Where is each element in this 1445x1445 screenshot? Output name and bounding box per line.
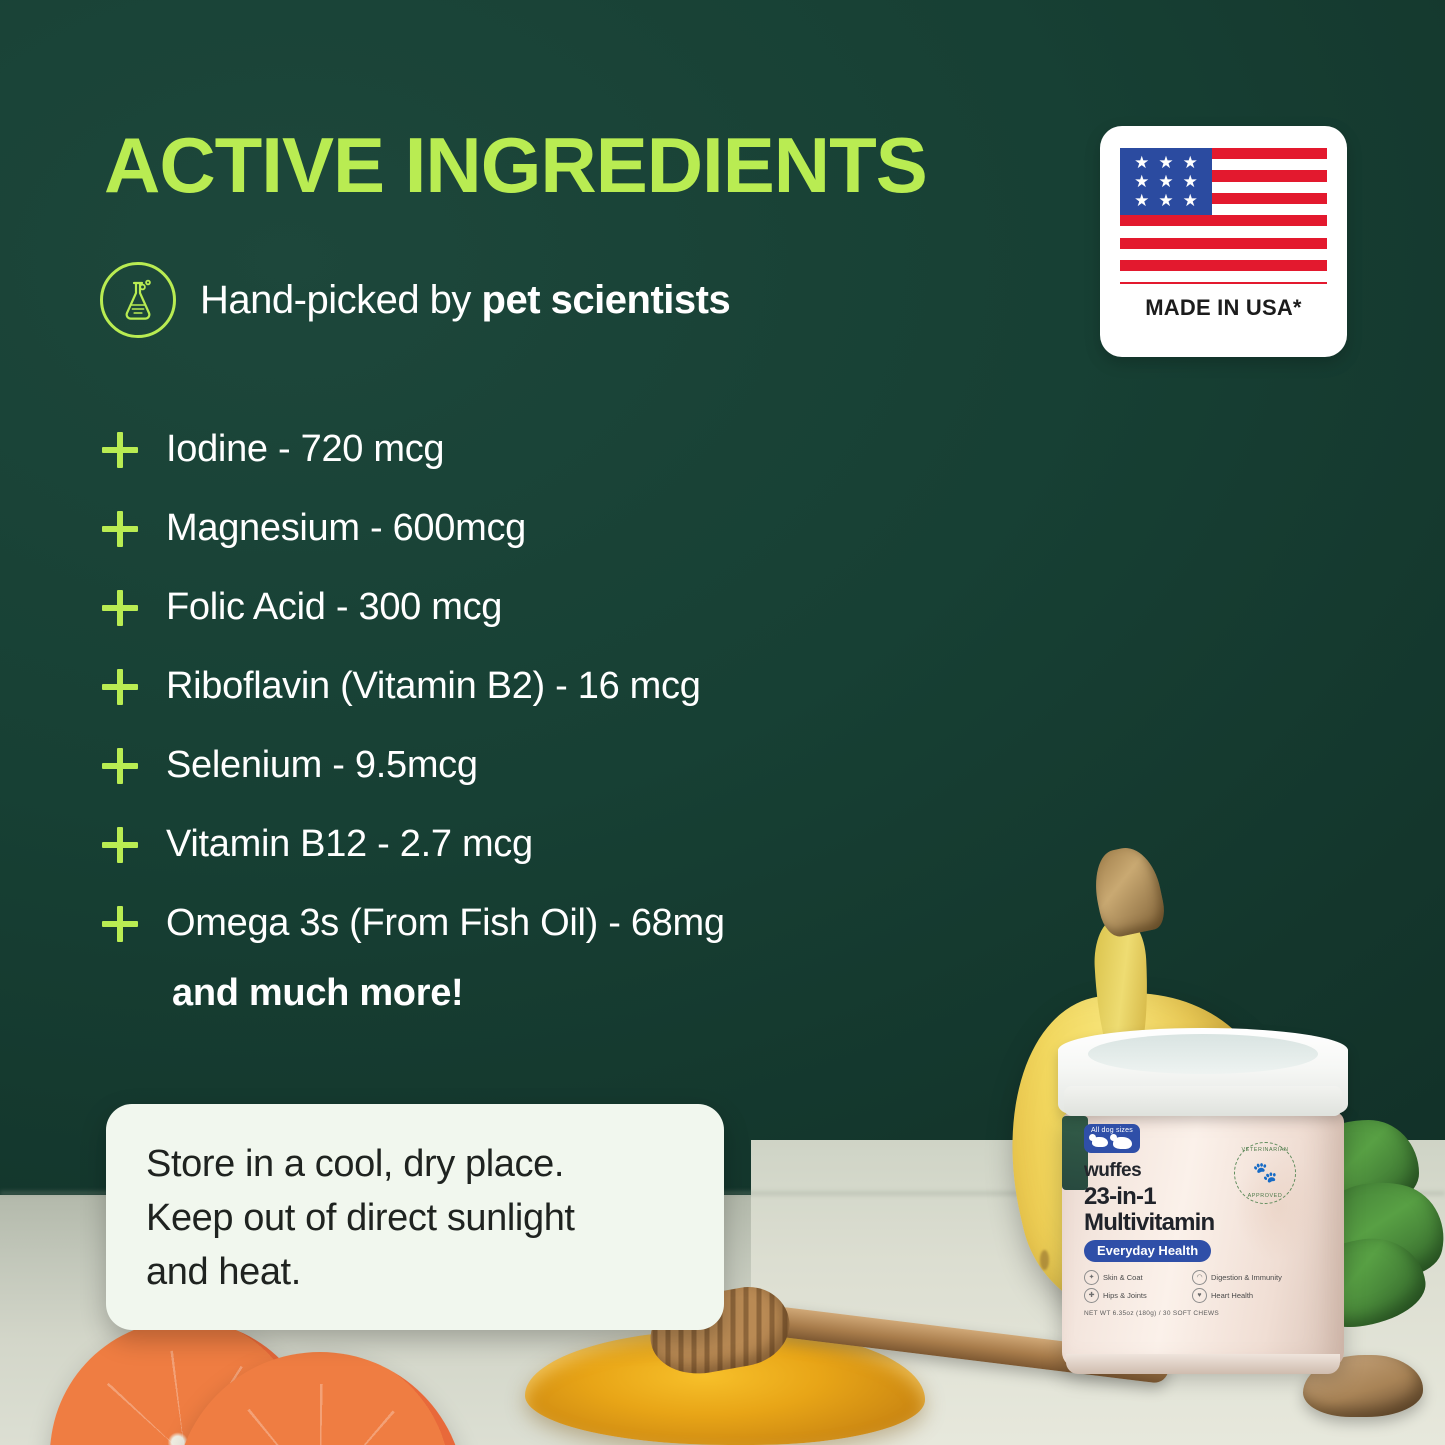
benefits-grid: ✦ Skin & Coat ◠ Digestion & Immunity ✚ H… (1084, 1270, 1294, 1303)
product-name-line-2: Multivitamin (1084, 1211, 1294, 1235)
benefit-item: ♥ Heart Health (1192, 1288, 1294, 1303)
everyday-health-pill: Everyday Health (1084, 1240, 1211, 1262)
jar-base (1066, 1354, 1340, 1374)
subheadline: Hand-picked by pet scientists (100, 262, 730, 338)
flag-stripe (1120, 215, 1327, 226)
product-infographic: All dog sizes VETERINARIAN 🐾 APPROVED wu… (0, 0, 1445, 1445)
subheadline-prefix: Hand-picked by (200, 278, 482, 322)
ingredient-label: Selenium - 9.5mcg (166, 744, 478, 787)
list-item: Iodine - 720 mcg (100, 410, 1000, 489)
made-in-usa-label: MADE IN USA* (1120, 295, 1327, 321)
all-dog-sizes-badge: All dog sizes (1084, 1124, 1140, 1153)
vet-seal-top-text: VETERINARIAN (1235, 1147, 1295, 1153)
product-jar: All dog sizes VETERINARIAN 🐾 APPROVED wu… (1058, 1028, 1348, 1368)
digestion-immunity-icon: ◠ (1192, 1270, 1207, 1285)
storage-instructions-card: Store in a cool, dry place. Keep out of … (106, 1104, 724, 1330)
ingredient-label: Riboflavin (Vitamin B2) - 16 mcg (166, 665, 701, 708)
vet-approved-seal: VETERINARIAN 🐾 APPROVED (1234, 1142, 1296, 1204)
plus-icon (100, 430, 140, 470)
ingredient-label: Iodine - 720 mcg (166, 428, 444, 471)
list-item: Vitamin B12 - 2.7 mcg (100, 805, 1000, 884)
storage-line: and heat. (146, 1246, 684, 1300)
plus-icon (100, 825, 140, 865)
flag-star: ★ (1183, 155, 1198, 170)
banana-spot (1040, 1250, 1049, 1270)
ingredient-label: Omega 3s (From Fish Oil) - 68mg (166, 902, 725, 945)
flag-star: ★ (1134, 174, 1149, 189)
storage-line: Keep out of direct sunlight (146, 1192, 684, 1246)
flag-stripe (1120, 238, 1327, 249)
ingredient-label: Folic Acid - 300 mcg (166, 586, 502, 629)
vet-seal-bottom-text: APPROVED (1235, 1193, 1295, 1199)
plus-icon (100, 509, 140, 549)
flag-star: ★ (1183, 174, 1198, 189)
two-dogs-icon (1091, 1137, 1133, 1149)
plus-icon (100, 588, 140, 628)
flag-canton: ★ ★ ★ ★ ★ ★ ★ ★ ★ (1120, 148, 1212, 215)
list-item: Magnesium - 600mcg (100, 489, 1000, 568)
benefit-label: Hips & Joints (1103, 1292, 1147, 1300)
plus-icon (100, 667, 140, 707)
plus-icon (100, 904, 140, 944)
flag-star: ★ (1158, 155, 1173, 170)
benefit-label: Skin & Coat (1103, 1274, 1143, 1282)
net-weight-text: NET WT 6.35oz (180g) / 30 SOFT CHEWS (1084, 1310, 1294, 1317)
usa-flag-icon: ★ ★ ★ ★ ★ ★ ★ ★ ★ (1120, 148, 1327, 284)
benefit-item: ✦ Skin & Coat (1084, 1270, 1186, 1285)
benefit-item: ◠ Digestion & Immunity (1192, 1270, 1294, 1285)
benefit-label: Heart Health (1211, 1292, 1253, 1300)
list-item: Riboflavin (Vitamin B2) - 16 mcg (100, 647, 1000, 726)
page-title: ACTIVE INGREDIENTS (104, 126, 927, 204)
banana-stem (1088, 842, 1168, 939)
and-much-more-text: and much more! (172, 972, 463, 1015)
made-in-usa-badge: ★ ★ ★ ★ ★ ★ ★ ★ ★ MADE IN USA* (1100, 126, 1347, 357)
ingredient-label: Magnesium - 600mcg (166, 507, 526, 550)
heart-health-icon: ♥ (1192, 1288, 1207, 1303)
all-dog-sizes-label: All dog sizes (1091, 1127, 1133, 1134)
skin-coat-icon: ✦ (1084, 1270, 1099, 1285)
dog-small-icon (1092, 1137, 1108, 1147)
hips-joints-icon: ✚ (1084, 1288, 1099, 1303)
flag-star: ★ (1158, 193, 1173, 208)
flag-star: ★ (1158, 174, 1173, 189)
list-item: Folic Acid - 300 mcg (100, 568, 1000, 647)
benefit-label: Digestion & Immunity (1211, 1274, 1282, 1282)
plus-icon (100, 746, 140, 786)
flag-stripe (1120, 282, 1327, 284)
jar-lid-inner (1088, 1034, 1318, 1074)
jar-lid-rim (1064, 1086, 1342, 1116)
paw-print-icon: 🐾 (1253, 1163, 1278, 1183)
jar-label: All dog sizes VETERINARIAN 🐾 APPROVED wu… (1084, 1124, 1294, 1317)
flag-star: ★ (1134, 155, 1149, 170)
flag-star: ★ (1134, 193, 1149, 208)
list-item: Omega 3s (From Fish Oil) - 68mg (100, 884, 1000, 963)
ingredients-list: Iodine - 720 mcg Magnesium - 600mcg Foli… (100, 410, 1000, 963)
subheadline-text: Hand-picked by pet scientists (200, 278, 730, 323)
benefit-item: ✚ Hips & Joints (1084, 1288, 1186, 1303)
storage-line: Store in a cool, dry place. (146, 1138, 684, 1192)
list-item: Selenium - 9.5mcg (100, 726, 1000, 805)
flask-icon (100, 262, 176, 338)
dog-large-icon (1113, 1137, 1132, 1149)
ingredient-label: Vitamin B12 - 2.7 mcg (166, 823, 533, 866)
flag-star: ★ (1183, 193, 1198, 208)
flag-stripe (1120, 260, 1327, 271)
subheadline-emphasis: pet scientists (482, 278, 731, 322)
